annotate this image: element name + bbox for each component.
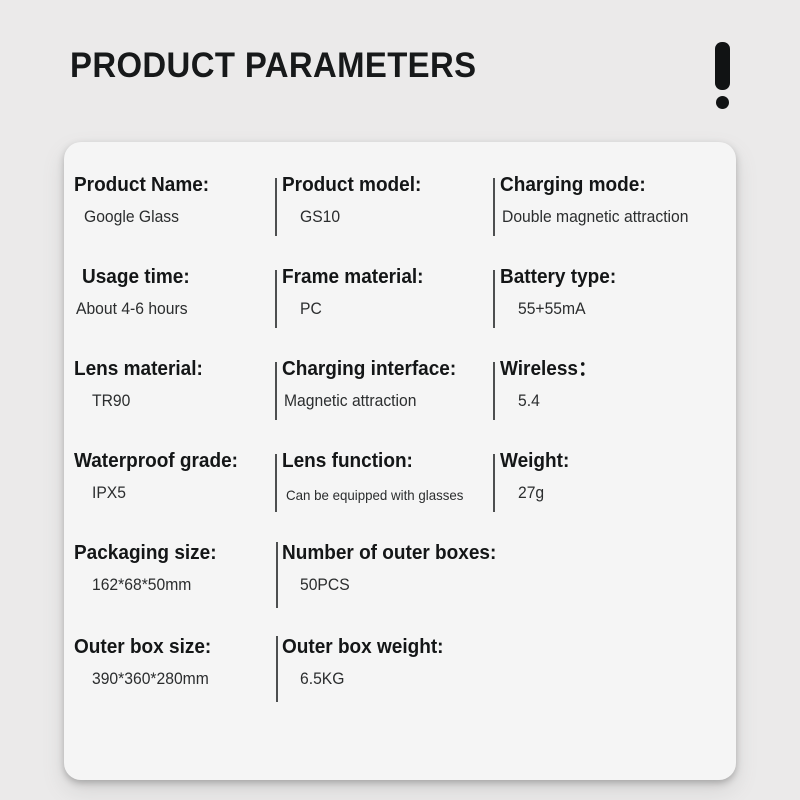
spec-cell-lens-material: Lens material: TR90	[74, 356, 274, 432]
column-divider	[276, 636, 278, 702]
spec-cell-charging-mode: Charging mode: Double magnetic attractio…	[500, 172, 728, 248]
spec-label: Waterproof grade:	[74, 448, 238, 474]
page-header: PRODUCT PARAMETERS	[0, 0, 800, 142]
table-row: Usage time: About 4-6 hours Frame materi…	[64, 264, 736, 340]
spec-cell-frame-material: Frame material: PC	[282, 264, 494, 340]
spec-cell-charging-interface: Charging interface: Magnetic attraction	[282, 356, 494, 432]
spec-cell-lens-function: Lens function: Can be equipped with glas…	[282, 448, 494, 524]
spec-value: 55+55mA	[518, 298, 586, 320]
spec-label: Charging interface:	[282, 356, 456, 382]
table-row: Packaging size: 162*68*50mm Number of ou…	[64, 540, 736, 616]
spec-value: Google Glass	[84, 206, 179, 228]
spec-cell-product-name: Product Name: Google Glass	[74, 172, 274, 248]
spec-value: 162*68*50mm	[92, 574, 191, 596]
table-row: Lens material: TR90 Charging interface: …	[64, 356, 736, 432]
spec-value: 6.5KG	[300, 668, 344, 690]
spec-value: 5.4	[518, 390, 540, 412]
spec-cell-weight: Weight: 27g	[500, 448, 728, 524]
spec-value: 390*360*280mm	[92, 668, 209, 690]
exclamation-mark-icon	[715, 42, 731, 110]
spec-value: Can be equipped with glasses	[286, 484, 463, 506]
spec-cell-wireless: Wireless： 5.4	[500, 356, 728, 432]
specifications-card: Product Name: Google Glass Product model…	[64, 142, 736, 780]
spec-label: Frame material:	[282, 264, 424, 290]
exclamation-bar	[715, 42, 730, 90]
spec-cell-usage-time: Usage time: About 4-6 hours	[74, 264, 274, 340]
spec-value: 27g	[518, 482, 544, 504]
spec-value: Magnetic attraction	[284, 390, 416, 412]
spec-label: Number of outer boxes:	[282, 540, 496, 566]
spec-value: Double magnetic attraction	[502, 206, 688, 228]
column-divider	[276, 542, 278, 608]
spec-cell-waterproof-grade: Waterproof grade: IPX5	[74, 448, 274, 524]
spec-label: Lens function:	[282, 448, 413, 474]
spec-value: About 4-6 hours	[76, 298, 188, 320]
spec-value: 50PCS	[300, 574, 350, 596]
table-row: Product Name: Google Glass Product model…	[64, 172, 736, 248]
spec-label: Wireless：	[500, 356, 597, 382]
column-divider	[275, 454, 277, 512]
column-divider	[275, 362, 277, 420]
page-title: PRODUCT PARAMETERS	[70, 44, 476, 88]
spec-label: Battery type:	[500, 264, 616, 290]
spec-cell-number-of-outer-boxes: Number of outer boxes: 50PCS	[282, 540, 728, 616]
spec-label: Lens material:	[74, 356, 203, 382]
table-row: Outer box size: 390*360*280mm Outer box …	[64, 634, 736, 710]
column-divider	[275, 270, 277, 328]
spec-label: Outer box size:	[74, 634, 211, 660]
spec-label: Packaging size:	[74, 540, 217, 566]
spec-label: Charging mode:	[500, 172, 646, 198]
table-row: Waterproof grade: IPX5 Lens function: Ca…	[64, 448, 736, 524]
spec-value: PC	[300, 298, 322, 320]
specifications-table: Product Name: Google Glass Product model…	[64, 142, 736, 780]
spec-value: TR90	[92, 390, 130, 412]
spec-cell-battery-type: Battery type: 55+55mA	[500, 264, 728, 340]
spec-value: GS10	[300, 206, 340, 228]
spec-label: Weight:	[500, 448, 569, 474]
column-divider	[275, 178, 277, 236]
spec-cell-outer-box-weight: Outer box weight: 6.5KG	[282, 634, 728, 710]
spec-value: IPX5	[92, 482, 126, 504]
spec-cell-product-model: Product model: GS10	[282, 172, 494, 248]
spec-label: Product model:	[282, 172, 421, 198]
spec-cell-packaging-size: Packaging size: 162*68*50mm	[74, 540, 274, 616]
exclamation-dot	[716, 96, 729, 109]
spec-cell-outer-box-size: Outer box size: 390*360*280mm	[74, 634, 274, 710]
spec-label: Outer box weight:	[282, 634, 444, 660]
spec-label: Product Name:	[74, 172, 209, 198]
spec-label: Usage time:	[82, 264, 190, 290]
